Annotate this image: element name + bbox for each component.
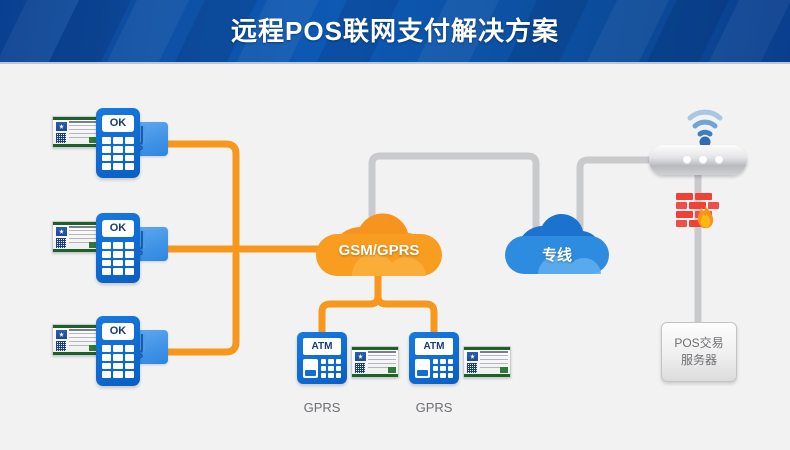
pos-terminal-1[interactable]: $ OK xyxy=(96,108,168,180)
module-qr-code-icon xyxy=(355,363,365,373)
link-leased-line-to-router xyxy=(580,160,660,242)
gprs-module-atm2 xyxy=(463,346,511,378)
gprs-module-pos3 xyxy=(52,324,100,356)
pos-keypad-2[interactable] xyxy=(102,242,134,275)
module-pcb-edge xyxy=(352,374,398,377)
cloud-gsm-gprs xyxy=(316,213,442,276)
link-cloud-to-atm2 xyxy=(378,276,434,332)
module-pcb-edge xyxy=(352,347,398,350)
pos-body-2: OK xyxy=(96,213,140,283)
atm-card-slot-1[interactable] xyxy=(303,359,318,378)
module-brand-logo-icon xyxy=(56,330,67,339)
gprs-module-pos1 xyxy=(52,116,100,148)
link-cloud-to-atm1 xyxy=(322,276,378,332)
router-led xyxy=(683,156,691,164)
module-qr-code-icon xyxy=(467,363,477,373)
atm-keypad-1[interactable] xyxy=(321,359,341,378)
server-label-line2: 服务器 xyxy=(681,352,717,369)
module-pcb-edge xyxy=(53,117,99,120)
pos-transaction-server[interactable]: POS交易 服务器 xyxy=(661,322,737,382)
atm-1[interactable]: ATM xyxy=(297,332,347,384)
atm-caption-1: GPRS xyxy=(277,400,367,415)
atm-keypad-2[interactable] xyxy=(433,359,453,378)
link-pos1-to-trunk xyxy=(168,144,236,249)
firewall-icon xyxy=(675,192,721,230)
atm-2[interactable]: ATM xyxy=(409,332,459,384)
pos-body-1: OK xyxy=(96,108,140,178)
module-chip xyxy=(500,367,508,373)
gprs-module-pos2 xyxy=(52,221,100,253)
pos-screen-3: OK xyxy=(102,323,134,340)
wireless-router[interactable] xyxy=(649,145,747,175)
atm-body-1: ATM xyxy=(297,332,347,384)
module-brand-logo-icon xyxy=(355,352,366,361)
diagram-canvas: $ OK $ OK xyxy=(0,64,790,450)
module-brand-logo-icon xyxy=(56,227,67,236)
pos-keypad-1[interactable] xyxy=(102,137,134,170)
router-led xyxy=(715,156,723,164)
pos-screen-1: OK xyxy=(102,115,134,132)
module-qr-code-icon xyxy=(56,341,66,351)
module-pcb-edge xyxy=(464,374,510,377)
pos-body-3: OK xyxy=(96,316,140,386)
module-brand-logo-icon xyxy=(56,122,67,131)
cloud-leased-line xyxy=(505,214,609,274)
module-chip xyxy=(388,367,396,373)
router-led xyxy=(699,156,707,164)
pos-network-diagram-page: 远程POS联网支付解决方案 xyxy=(0,0,790,450)
module-pcb-edge xyxy=(53,222,99,225)
module-pcb-edge xyxy=(53,352,99,355)
atm-caption-2: GPRS xyxy=(389,400,479,415)
module-pcb-edge xyxy=(53,144,99,147)
link-pos3-to-trunk xyxy=(168,254,236,352)
atm-body-2: ATM xyxy=(409,332,459,384)
pos-screen-2: OK xyxy=(102,220,134,237)
wifi-icon xyxy=(690,112,720,147)
flame-icon xyxy=(698,206,713,228)
pos-terminal-2[interactable]: $ OK xyxy=(96,213,168,285)
atm-card-slot-2[interactable] xyxy=(415,359,430,378)
atm-screen-1: ATM xyxy=(303,338,341,355)
header-banner: 远程POS联网支付解决方案 xyxy=(0,0,790,63)
pos-terminal-3[interactable]: $ OK xyxy=(96,316,168,388)
module-pcb-edge xyxy=(464,347,510,350)
gprs-module-atm1 xyxy=(351,346,399,378)
module-qr-code-icon xyxy=(56,238,66,248)
module-pcb-edge xyxy=(53,249,99,252)
module-pcb-edge xyxy=(53,325,99,328)
module-brand-logo-icon xyxy=(467,352,478,361)
router-status-leds xyxy=(683,156,729,164)
atm-screen-2: ATM xyxy=(415,338,453,355)
module-qr-code-icon xyxy=(56,133,66,143)
server-label-line1: POS交易 xyxy=(674,335,723,352)
page-title: 远程POS联网支付解决方案 xyxy=(0,0,790,63)
pos-keypad-3[interactable] xyxy=(102,345,134,378)
